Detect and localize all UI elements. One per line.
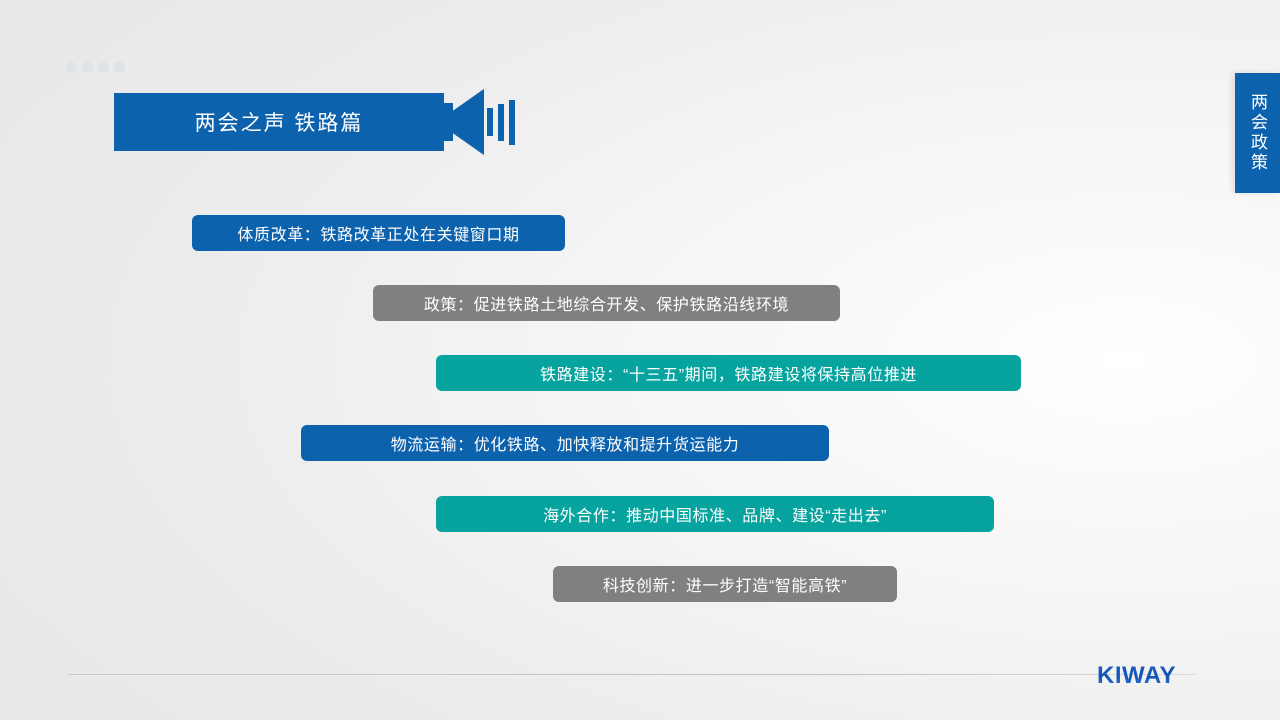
title-banner: 两会之声 铁路篇 <box>114 93 444 151</box>
svg-text:KIWAY: KIWAY <box>1097 662 1176 689</box>
content-bar[interactable]: 海外合作：推动中国标准、品牌、建设“走出去” <box>436 496 994 532</box>
side-tab-label: 两会政策 <box>1249 93 1266 173</box>
content-bar[interactable]: 物流运输：优化铁路、加快释放和提升货运能力 <box>301 425 829 461</box>
decorative-dot <box>82 62 93 73</box>
content-bar[interactable]: 政策：促进铁路土地综合开发、保护铁路沿线环境 <box>373 285 840 321</box>
sound-wave-bar <box>509 100 515 145</box>
megaphone-icon <box>444 89 484 155</box>
footer-divider <box>68 674 1196 675</box>
content-bar[interactable]: 体质改革：铁路改革正处在关键窗口期 <box>192 215 565 251</box>
sound-wave-icon <box>487 97 515 147</box>
page-title: 两会之声 铁路篇 <box>195 107 364 137</box>
sound-wave-bar <box>498 104 504 141</box>
sound-wave-bar <box>487 108 493 136</box>
side-tab-policy[interactable]: 两会政策 <box>1235 73 1280 193</box>
decorative-dot <box>66 62 77 73</box>
decorative-dot <box>98 62 109 73</box>
content-bar[interactable]: 铁路建设：“十三五”期间，铁路建设将保持高位推进 <box>436 355 1021 391</box>
content-bar[interactable]: 科技创新：进一步打造“智能高铁” <box>553 566 897 602</box>
kiway-logo: KIWAY <box>1097 660 1197 690</box>
decorative-dots <box>66 62 125 73</box>
slide-canvas: 两会之声 铁路篇 两会政策 体质改革：铁路改革正处在关键窗口期 政策：促进铁路土… <box>0 0 1280 720</box>
decorative-dot <box>114 62 125 73</box>
